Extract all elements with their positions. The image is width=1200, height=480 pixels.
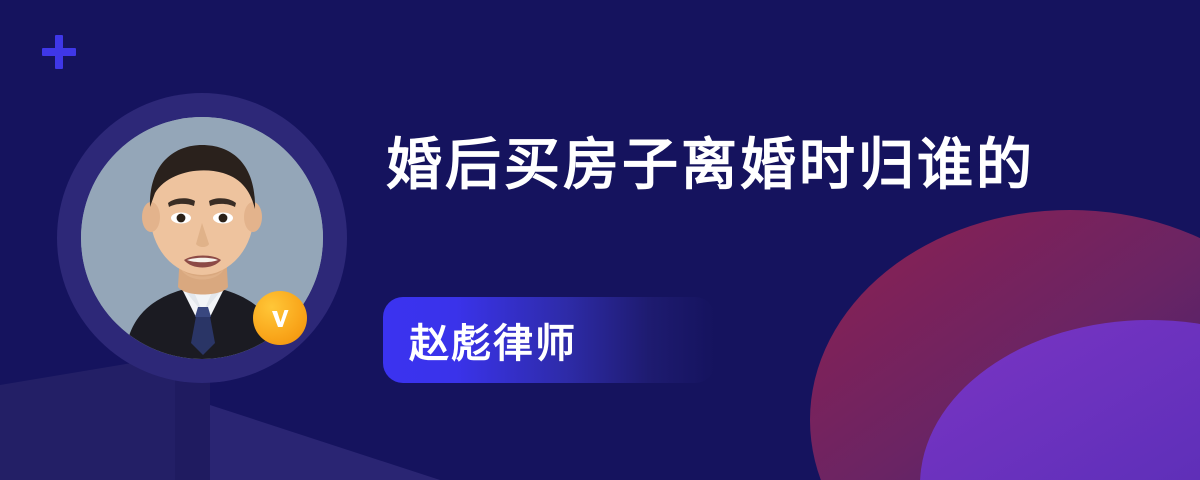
plus-icon-vertical-bar: [55, 35, 63, 69]
plus-icon: [42, 35, 76, 69]
decor-crimson-blob: [810, 210, 1200, 480]
decor-column-block: [0, 395, 175, 480]
verified-badge-icon: [253, 291, 307, 345]
decor-purple-blob: [920, 320, 1200, 480]
lawyer-name-label: 赵彪律师: [409, 311, 577, 369]
decor-column-stripe: [175, 370, 210, 480]
lawyer-name-button[interactable]: 赵彪律师: [383, 297, 715, 383]
decor-triangle: [210, 405, 440, 480]
lawyer-article-banner: 婚后买房子离婚时归谁的 赵彪律师: [0, 0, 1200, 480]
page-title: 婚后买房子离婚时归谁的: [386, 133, 1035, 197]
avatar[interactable]: [57, 93, 347, 383]
